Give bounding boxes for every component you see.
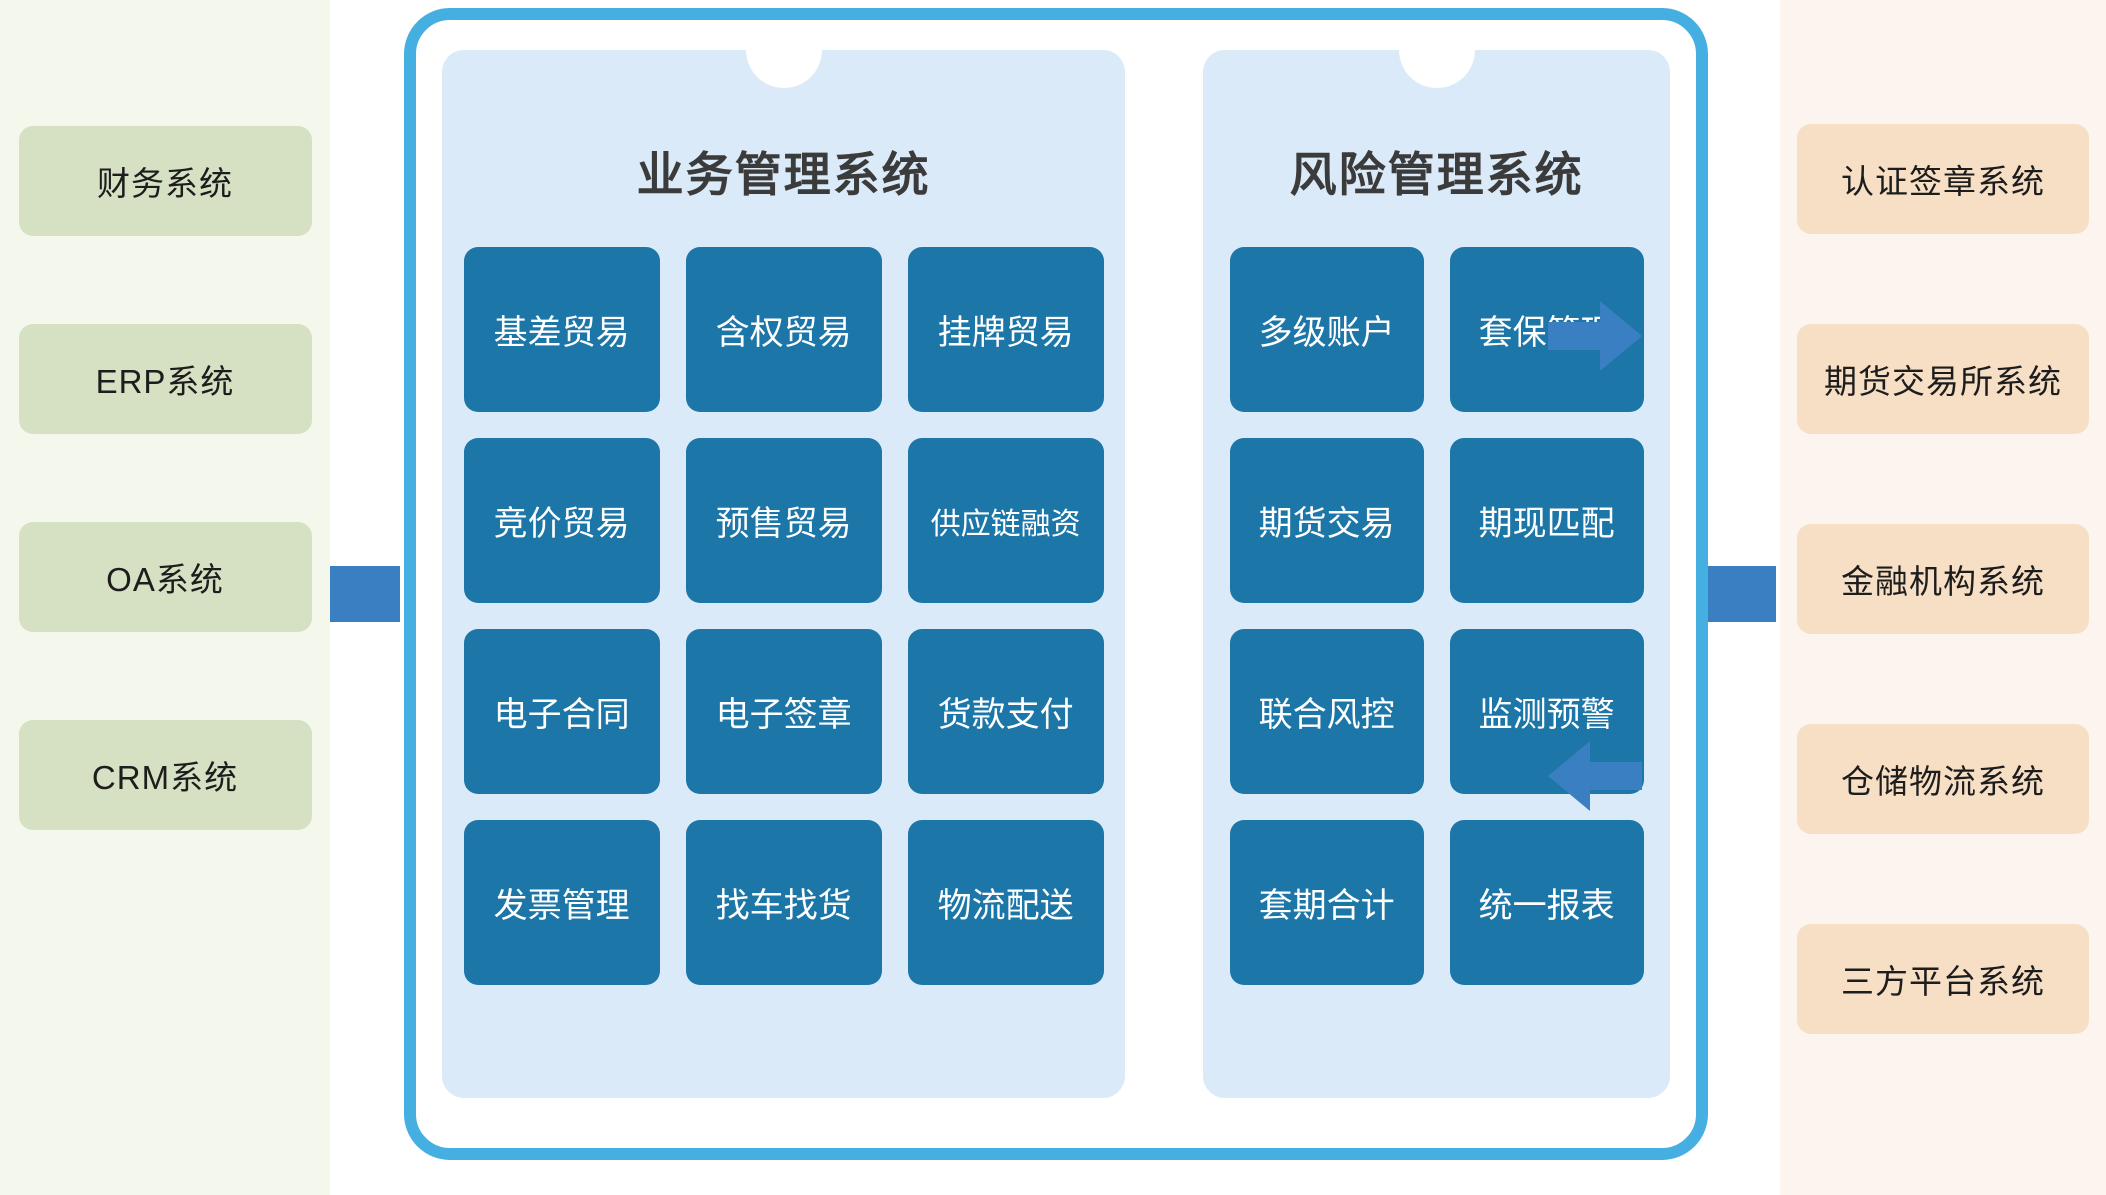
platform-frame: 业务管理系统 基差贸易 含权贸易 挂牌贸易 竞价贸易 预售贸易 供应链融资 电子… [404,8,1708,1160]
module-tile-label: 竞价贸易 [494,496,630,545]
module-tile[interactable]: 找车找货 [686,820,882,985]
external-system-card[interactable]: OA系统 [19,522,312,632]
module-tile[interactable]: 电子签章 [686,629,882,794]
right-external-systems-band: 认证签章系统 期货交易所系统 金融机构系统 仓储物流系统 三方平台系统 [1780,0,2106,1195]
module-tile[interactable]: 供应链融资 [908,438,1104,603]
external-system-label: 期货交易所系统 [1824,355,2062,403]
module-tile[interactable]: 发票管理 [464,820,660,985]
module-tile[interactable]: 物流配送 [908,820,1104,985]
left-external-systems-band: 财务系统 ERP系统 OA系统 CRM系统 [0,0,330,1195]
module-tile-label: 联合风控 [1259,687,1395,736]
external-system-label: 三方平台系统 [1841,955,2045,1003]
module-tile[interactable]: 多级账户 [1230,247,1424,412]
module-tile[interactable]: 预售贸易 [686,438,882,603]
module-tile[interactable]: 联合风控 [1230,629,1424,794]
module-tile-label: 监测预警 [1479,687,1615,736]
module-tile-label: 含权贸易 [716,305,852,354]
arrow-right-icon [1548,297,1642,375]
module-tile-label: 多级账户 [1259,305,1395,354]
external-system-card[interactable]: 财务系统 [19,126,312,236]
left-connector-block [330,566,400,622]
module-tile-label: 期货交易 [1259,496,1395,545]
module-tile[interactable]: 竞价贸易 [464,438,660,603]
risk-management-panel: 风险管理系统 多级账户 套保管理 期货交易 期现匹配 联合风控 监测预警 套期合… [1203,50,1670,1098]
external-system-card[interactable]: 认证签章系统 [1797,124,2089,234]
external-system-card[interactable]: 期货交易所系统 [1797,324,2089,434]
business-panel-title: 业务管理系统 [442,136,1125,205]
external-system-label: 财务系统 [97,157,233,205]
right-connector-block [1706,566,1776,622]
module-tile-label: 期现匹配 [1479,496,1615,545]
external-system-card[interactable]: CRM系统 [19,720,312,830]
module-tile[interactable]: 期现匹配 [1450,438,1644,603]
external-system-card[interactable]: 三方平台系统 [1797,924,2089,1034]
external-system-label: ERP系统 [96,355,235,403]
panel-notch-icon [1399,50,1475,88]
module-tile-label: 套期合计 [1259,878,1395,927]
module-tile-label: 电子签章 [716,687,852,736]
module-tile[interactable]: 电子合同 [464,629,660,794]
module-tile[interactable]: 挂牌贸易 [908,247,1104,412]
external-system-card[interactable]: 仓储物流系统 [1797,724,2089,834]
module-tile-label: 发票管理 [494,878,630,927]
module-tile-label: 挂牌贸易 [938,305,1074,354]
module-tile-label: 货款支付 [938,687,1074,736]
module-tile-label: 找车找货 [716,878,852,927]
module-tile-label: 预售贸易 [716,496,852,545]
external-system-label: 仓储物流系统 [1841,755,2045,803]
module-tile[interactable]: 套期合计 [1230,820,1424,985]
module-tile-label: 统一报表 [1479,878,1615,927]
external-system-label: 认证签章系统 [1841,155,2045,203]
risk-panel-title: 风险管理系统 [1203,136,1670,205]
module-tile[interactable]: 货款支付 [908,629,1104,794]
external-system-card[interactable]: ERP系统 [19,324,312,434]
module-tile[interactable]: 基差贸易 [464,247,660,412]
external-system-label: CRM系统 [92,751,238,799]
business-tile-grid: 基差贸易 含权贸易 挂牌贸易 竞价贸易 预售贸易 供应链融资 电子合同 电子签章… [442,247,1125,985]
module-tile-label: 供应链融资 [931,499,1081,543]
external-system-label: OA系统 [106,553,224,601]
panels-container: 业务管理系统 基差贸易 含权贸易 挂牌贸易 竞价贸易 预售贸易 供应链融资 电子… [416,20,1696,1148]
module-tile[interactable]: 期货交易 [1230,438,1424,603]
external-system-card[interactable]: 金融机构系统 [1797,524,2089,634]
external-system-label: 金融机构系统 [1841,555,2045,603]
module-tile-label: 物流配送 [938,878,1074,927]
module-tile-label: 基差贸易 [494,305,630,354]
module-tile[interactable]: 统一报表 [1450,820,1644,985]
business-management-panel: 业务管理系统 基差贸易 含权贸易 挂牌贸易 竞价贸易 预售贸易 供应链融资 电子… [442,50,1125,1098]
panel-notch-icon [746,50,822,88]
arrow-left-icon [1548,737,1642,815]
module-tile-label: 电子合同 [494,687,630,736]
module-tile[interactable]: 含权贸易 [686,247,882,412]
